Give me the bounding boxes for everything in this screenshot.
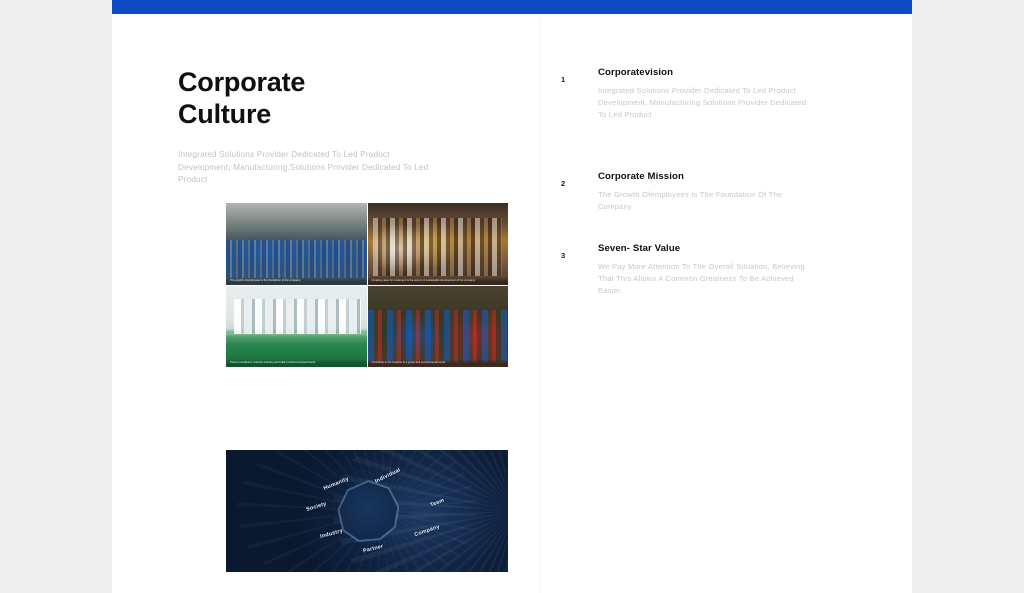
photo-caption-1: The growth of employees is the foundatio… (226, 277, 367, 285)
section-title-2: Corporate Mission (598, 170, 861, 184)
page-title: Corporate Culture (178, 66, 478, 130)
section-seven-star-value: 3 Seven- Star Value We Pay More Attentio… (561, 242, 861, 298)
customer-event-photo[interactable]: Creating value for customers is the sour… (368, 203, 509, 285)
seven-star-value-diagram[interactable]: Individual Team Company Partner Industry… (226, 450, 508, 572)
section-spacer-1 (561, 122, 861, 170)
section-description-2: The Growth Ofemployees Is The Foundation… (598, 189, 813, 213)
mission-photo-grid: The growth of employees is the foundatio… (226, 203, 508, 367)
section-number-2: 2 (561, 179, 575, 188)
factory-workshop-photo[interactable]: Pursue excellence, lead the industry and… (226, 286, 367, 368)
left-column: Corporate Culture Integrated Solutions P… (178, 66, 478, 187)
employee-group-photo[interactable]: The growth of employees is the foundatio… (226, 203, 367, 285)
section-title-3: Seven- Star Value (598, 242, 861, 256)
page-title-line-1: Corporate (178, 67, 305, 97)
section-number-3: 3 (561, 251, 575, 260)
right-column: 1 Corporatevision Integrated Solutions P… (561, 66, 861, 298)
section-number-1: 1 (561, 75, 575, 84)
section-corporate-mission: 2 Corporate Mission The Growth Ofemploye… (561, 170, 861, 213)
page-subtitle: Integrated Solutions Provider Dedicated … (178, 149, 430, 187)
top-accent-bar (112, 0, 912, 14)
page-title-line-2: Culture (178, 99, 271, 129)
section-spacer-2 (561, 213, 861, 242)
section-description-1: Integrated Solutions Provider Dedicated … (598, 85, 813, 122)
photo-caption-3: Pursue excellence, lead the industry and… (226, 359, 367, 367)
photo-caption-2: Creating value for customers is the sour… (368, 277, 509, 285)
volunteer-community-photo[interactable]: Contribute to the creation of a green an… (368, 286, 509, 368)
section-title-1: Corporatevision (598, 66, 861, 80)
column-divider (540, 14, 541, 593)
photo-caption-4: Contribute to the creation of a green an… (368, 359, 509, 367)
section-description-3: We Pay More Attention To The Overall Sit… (598, 261, 813, 298)
page-canvas: Corporate Culture Integrated Solutions P… (112, 0, 912, 593)
section-corporate-vision: 1 Corporatevision Integrated Solutions P… (561, 66, 861, 122)
